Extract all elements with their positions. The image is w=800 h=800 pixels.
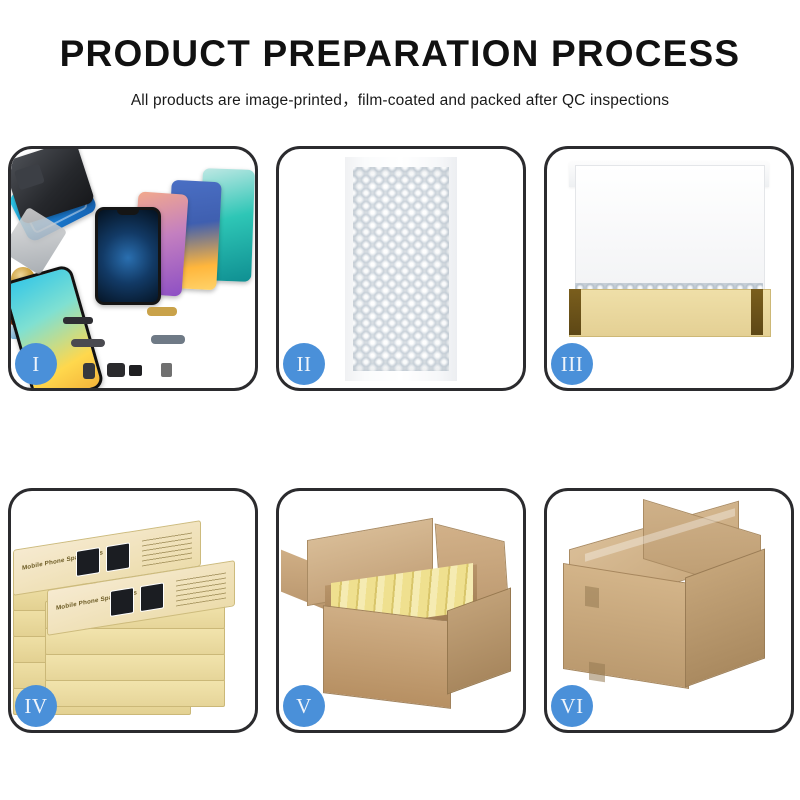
box-screen-thumb-1 <box>76 547 100 577</box>
part-connector <box>161 363 172 377</box>
bubble-texture <box>353 167 449 371</box>
part-battery-strip <box>63 317 93 324</box>
kraft-box-side-right <box>751 289 763 335</box>
part-speaker <box>107 363 125 377</box>
phone-screen-dark <box>95 207 161 305</box>
bubble-wrap-pouch <box>345 157 457 381</box>
part-flex-cable-3 <box>147 307 177 316</box>
box-screen-thumb-2 <box>106 542 130 572</box>
process-step-grid: I II III <box>8 146 794 736</box>
process-step-4: Mobile Phone Spare Parts Mobile Phone Sp… <box>8 488 258 733</box>
process-step-2: II <box>276 146 526 391</box>
kraft-box-body <box>569 289 771 337</box>
part-camera <box>83 363 95 379</box>
step-badge-1: I <box>15 343 57 385</box>
sealed-carton-front-face <box>563 563 689 689</box>
box-screen-thumb-4 <box>140 582 164 612</box>
step-badge-2: II <box>283 343 325 385</box>
process-step-6: VI <box>544 488 794 733</box>
box-spec-lines-front <box>176 571 226 607</box>
step-badge-5: V <box>283 685 325 727</box>
page-header: PRODUCT PREPARATION PROCESS All products… <box>0 0 800 110</box>
process-step-3: III <box>544 146 794 391</box>
step-badge-3: III <box>551 343 593 385</box>
white-lid-panel <box>575 165 765 297</box>
carton-front-face <box>323 605 451 709</box>
part-module-square <box>129 365 142 376</box>
page-subtitle: All products are image-printed，film-coat… <box>0 88 800 110</box>
sealed-carton-tape-lower <box>589 662 605 683</box>
stack-box-front-2 <box>45 653 225 681</box>
step-badge-4: IV <box>15 685 57 727</box>
box-screen-thumb-3 <box>110 587 134 617</box>
kraft-box-side-left <box>569 289 581 335</box>
box-spec-lines-rear <box>142 531 192 567</box>
page-title: PRODUCT PREPARATION PROCESS <box>0 34 800 75</box>
process-step-5: V <box>276 488 526 733</box>
step-badge-6: VI <box>551 685 593 727</box>
stack-box-front-1 <box>45 679 225 707</box>
sealed-carton-tape-upper <box>585 586 599 608</box>
process-step-1: I <box>8 146 258 391</box>
part-flex-cable-1 <box>71 339 105 347</box>
part-flex-cable-2 <box>151 335 185 344</box>
